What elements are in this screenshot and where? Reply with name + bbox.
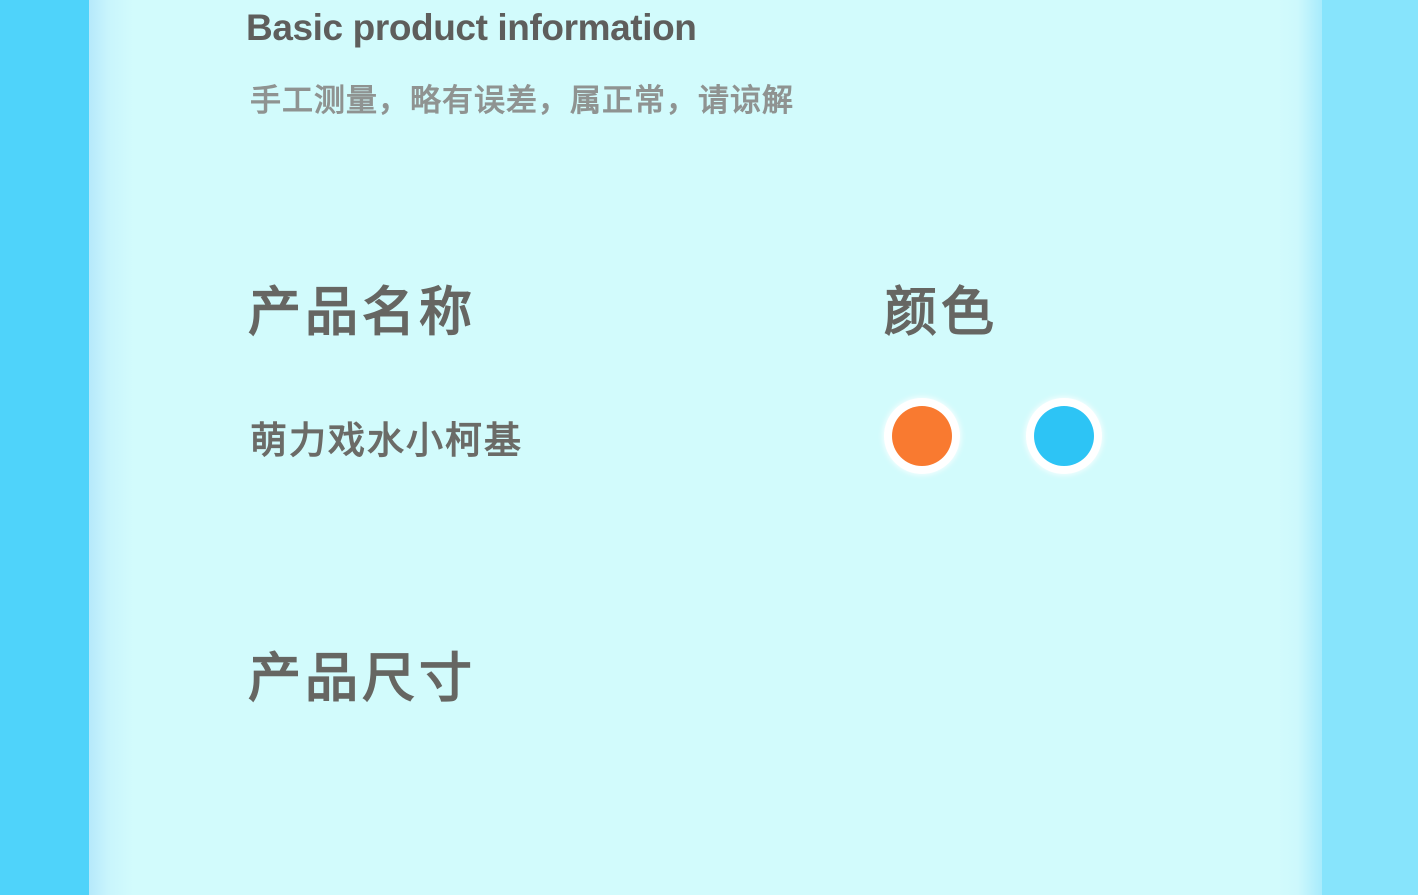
- product-info-page: Basic product information 手工测量，略有误差，属正常，…: [0, 0, 1418, 895]
- page-title-english: Basic product information: [246, 7, 696, 49]
- product-name-value: 萌力戏水小柯基: [250, 410, 523, 464]
- color-swatch-orange[interactable]: [892, 406, 952, 466]
- content-area: Basic product information 手工测量，略有误差，属正常，…: [0, 0, 1418, 895]
- section-heading-product-name: 产品名称: [248, 270, 476, 346]
- section-heading-product-size: 产品尺寸: [248, 636, 476, 712]
- color-swatch-blue[interactable]: [1034, 406, 1094, 466]
- page-subtitle-chinese: 手工测量，略有误差，属正常，请谅解: [250, 75, 794, 120]
- section-heading-color: 颜色: [884, 270, 998, 346]
